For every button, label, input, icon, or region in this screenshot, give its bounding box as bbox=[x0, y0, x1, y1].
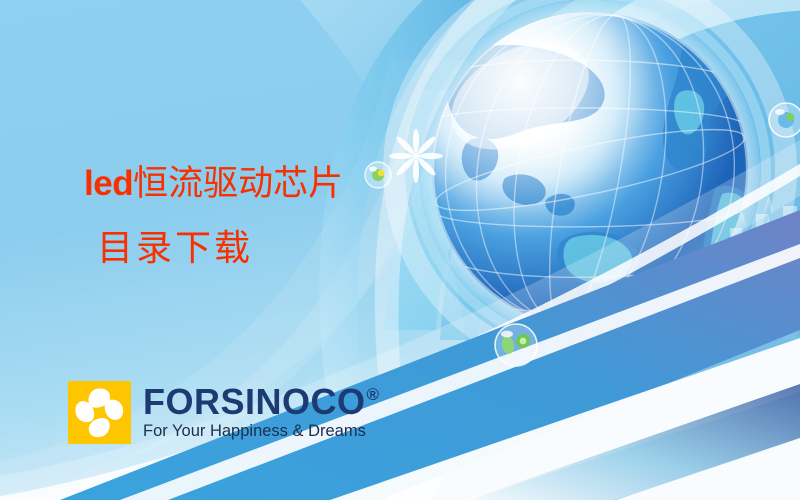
four-petal-flower-icon bbox=[68, 381, 131, 444]
headline-latin-prefix: led bbox=[84, 164, 133, 203]
forsinoco-logo: FORSINOCO® For Your Happiness & Dreams bbox=[68, 381, 380, 444]
logo-text-block: FORSINOCO® For Your Happiness & Dreams bbox=[143, 385, 380, 440]
logo-mark-square bbox=[68, 381, 131, 444]
bubble-globe-right bbox=[769, 103, 800, 137]
logo-tagline: For Your Happiness & Dreams bbox=[143, 422, 380, 440]
white-daisy-icon bbox=[389, 129, 443, 183]
registered-trademark-icon: ® bbox=[367, 386, 380, 403]
bubble-globe-small bbox=[365, 162, 391, 188]
headline-cjk-text: 恒流驱动芯片 bbox=[133, 164, 343, 204]
headline-line-1: led恒流驱动芯片 bbox=[84, 166, 343, 202]
led-driver-catalog-banner: led恒流驱动芯片 目录下载 FORSINOCO® For Your Happi… bbox=[0, 0, 800, 500]
headline-line-2: 目录下载 bbox=[97, 231, 253, 267]
logo-wordmark-text: FORSINOCO bbox=[143, 385, 366, 419]
logo-wordmark: FORSINOCO® bbox=[143, 385, 380, 419]
bubble-leaf bbox=[495, 324, 537, 366]
